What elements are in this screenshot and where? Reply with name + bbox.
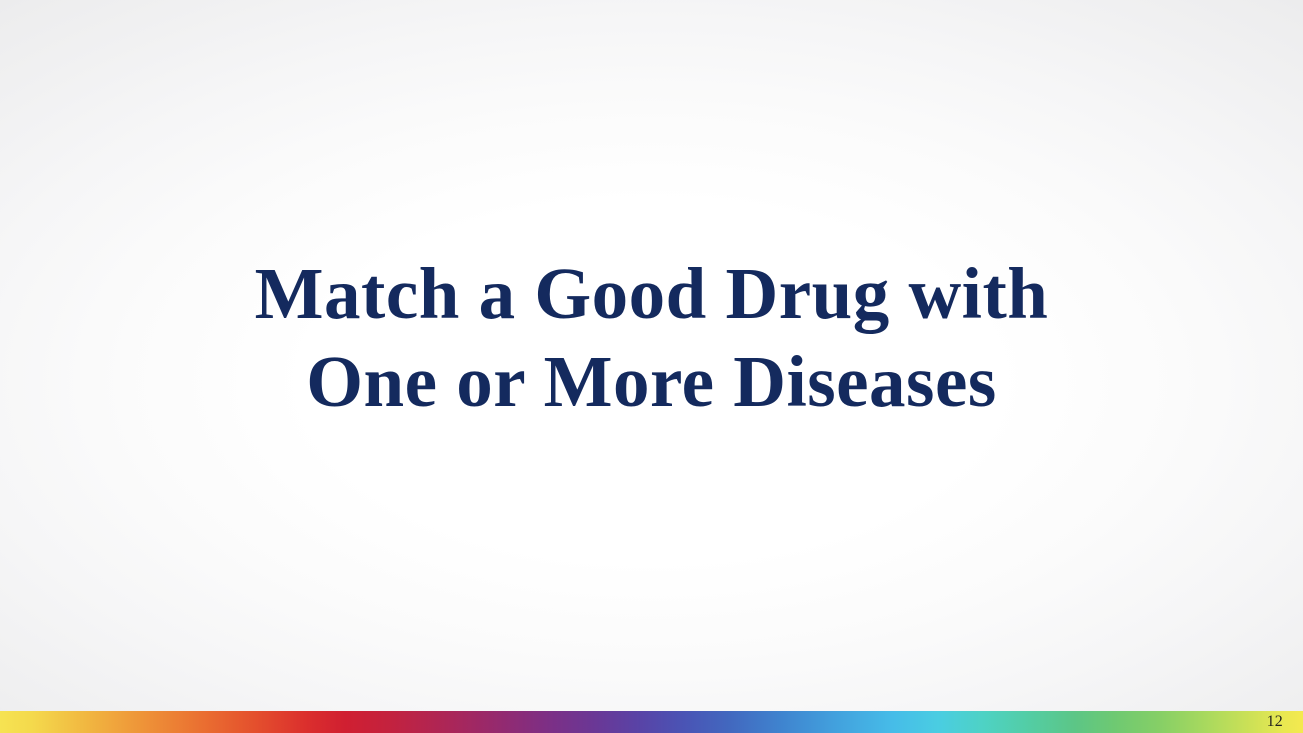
page-number: 12 xyxy=(1267,713,1283,731)
title-line-1: Match a Good Drug with xyxy=(0,250,1303,338)
title-line-2: One or More Diseases xyxy=(0,338,1303,426)
slide-canvas: Match a Good Drug with One or More Disea… xyxy=(0,0,1303,733)
slide-title: Match a Good Drug with One or More Disea… xyxy=(0,250,1303,426)
top-rainbow-rule xyxy=(0,0,1303,6)
bottom-rainbow-band: 12 xyxy=(0,711,1303,733)
